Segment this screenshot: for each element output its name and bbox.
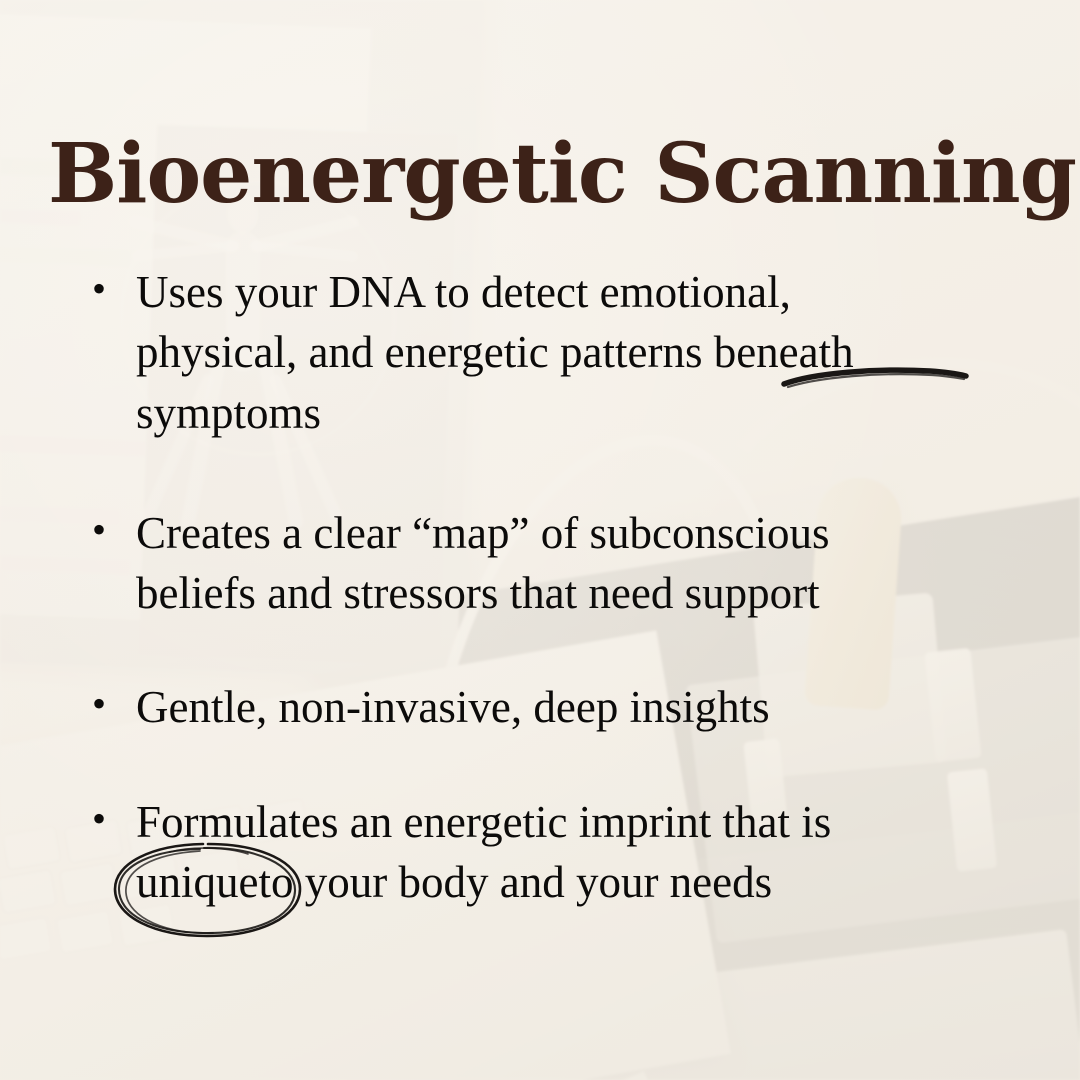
list-item: • Gentle, non-invasive, deep insights bbox=[92, 677, 972, 737]
line-text: physical, and energetic patterns beneath bbox=[136, 327, 854, 377]
list-item-text: Uses your DNA to detect emotional,physic… bbox=[136, 262, 972, 443]
list-item-text: Creates a clear “map” of subconsciousbel… bbox=[136, 503, 972, 624]
line-text: to your body and your needs bbox=[258, 857, 772, 907]
slide-content: Bioenergetic Scanning • Uses your DNA to… bbox=[0, 0, 1080, 1080]
page-title: Bioenergetic Scanning bbox=[48, 133, 1028, 215]
spacer bbox=[92, 738, 972, 792]
spacer bbox=[92, 443, 972, 503]
bullet-dot-icon: • bbox=[92, 503, 136, 557]
line-text: beliefs and stressors that need support bbox=[136, 568, 820, 618]
list-item: • Creates a clear “map” of subconsciousb… bbox=[92, 503, 972, 624]
bullet-dot-icon: • bbox=[92, 677, 136, 731]
slide-canvas: Bioenergetic Scanning • Uses your DNA to… bbox=[0, 0, 1080, 1080]
list-item-text: Gentle, non-invasive, deep insights bbox=[136, 677, 972, 737]
bullet-dot-icon: • bbox=[92, 262, 136, 316]
line-text: Formulates an energetic imprint that is bbox=[136, 797, 831, 847]
line-text: Creates a clear “map” of subconscious bbox=[136, 508, 829, 558]
list-item: • Uses your DNA to detect emotional,phys… bbox=[92, 262, 972, 443]
line-text: Uses your DNA to detect emotional, bbox=[136, 267, 791, 317]
bullet-list: • Uses your DNA to detect emotional,phys… bbox=[92, 262, 972, 912]
highlighted-word: unique bbox=[136, 857, 258, 907]
list-item-text: Formulates an energetic imprint that isu… bbox=[136, 792, 972, 913]
spacer bbox=[92, 623, 972, 677]
bullet-dot-icon: • bbox=[92, 792, 136, 846]
line-text: symptoms bbox=[136, 388, 321, 438]
list-item: • Formulates an energetic imprint that i… bbox=[92, 792, 972, 913]
